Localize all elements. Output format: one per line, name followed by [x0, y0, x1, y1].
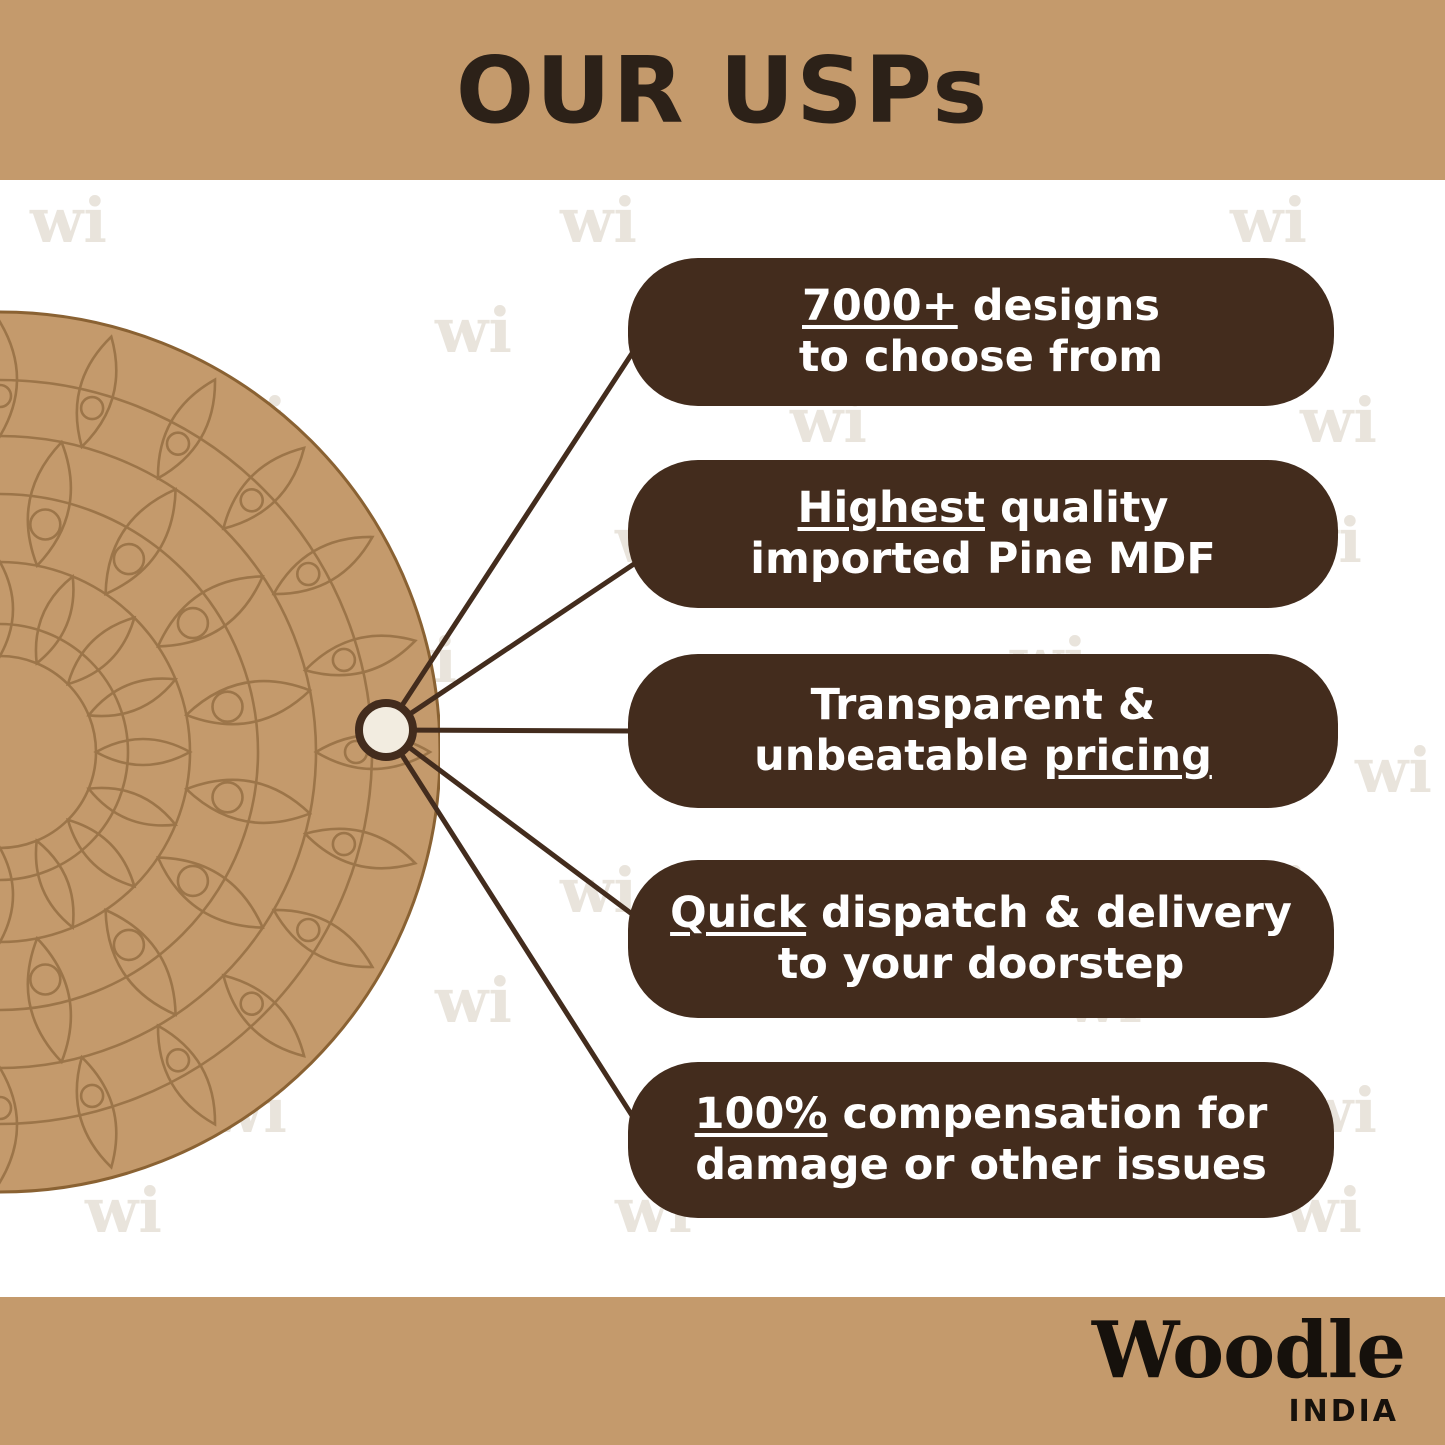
usp-line-2: unbeatable pricing — [754, 731, 1212, 782]
usp-line-1: Transparent & — [811, 680, 1156, 731]
brand-name: Woodle — [1092, 1312, 1405, 1390]
usp-line-2-pre: unbeatable — [754, 731, 1043, 781]
watermark-text: wi — [560, 860, 637, 922]
watermark-text: wi — [210, 390, 287, 452]
infographic-canvas: OUR USPs wiwiwiwiwiwiwiwiwiwiwiwiwiwiwiw… — [0, 0, 1445, 1445]
usp-pill-dispatch-delivery[interactable]: Quick dispatch & delivery to your doorst… — [628, 860, 1334, 1018]
usp-pill-compensation[interactable]: 100% compensation for damage or other is… — [628, 1062, 1334, 1218]
watermark-text: wi — [1300, 390, 1377, 452]
usp-line-2: imported Pine MDF — [750, 534, 1215, 585]
watermark-text: wi — [265, 740, 342, 802]
usp-line-1-rest: compensation for — [827, 1089, 1267, 1139]
watermark-text: wi — [30, 190, 107, 252]
watermark-text: wi — [1230, 190, 1307, 252]
usp-line-2: to your doorstep — [778, 939, 1185, 990]
watermark-text: wi — [435, 970, 512, 1032]
usp-highlight: 100% — [695, 1089, 828, 1139]
watermark-text: wi — [380, 630, 457, 692]
brand-subtitle: INDIA — [1092, 1394, 1399, 1429]
watermark-text: wi — [210, 1080, 287, 1142]
usp-highlight: pricing — [1044, 731, 1212, 781]
usp-highlight: Highest — [798, 483, 985, 533]
watermark-text: wi — [85, 1180, 162, 1242]
usp-line-1: 7000+ designs — [802, 281, 1160, 332]
usp-line-1-rest: dispatch & delivery — [806, 888, 1292, 938]
watermark-text: wi — [560, 190, 637, 252]
usp-line-1-rest: quality — [985, 483, 1168, 533]
usp-line-1: Highest quality — [798, 483, 1169, 534]
mandala-wood-disc — [0, 298, 440, 1206]
usp-highlight: 7000+ — [802, 281, 958, 331]
page-title: OUR USPs — [0, 0, 1445, 180]
usp-pill-material-quality[interactable]: Highest quality imported Pine MDF — [628, 460, 1338, 608]
usp-highlight: Quick — [670, 888, 806, 938]
watermark-text: wi — [85, 510, 162, 572]
hub-node — [359, 703, 413, 757]
usp-pill-designs-count[interactable]: 7000+ designs to choose from — [628, 258, 1334, 406]
usp-line-2: damage or other issues — [695, 1140, 1267, 1191]
watermark-text: wi — [1355, 740, 1432, 802]
usp-line-1: Quick dispatch & delivery — [670, 888, 1292, 939]
usp-line-1: 100% compensation for — [695, 1089, 1268, 1140]
watermark-text: wi — [435, 300, 512, 362]
usp-pill-pricing[interactable]: Transparent & unbeatable pricing — [628, 654, 1338, 808]
watermark-text: wi — [30, 860, 107, 922]
usp-line-2: to choose from — [799, 332, 1163, 383]
usp-line-1-rest: designs — [958, 281, 1160, 331]
brand-logo: Woodle INDIA — [1092, 1312, 1405, 1429]
